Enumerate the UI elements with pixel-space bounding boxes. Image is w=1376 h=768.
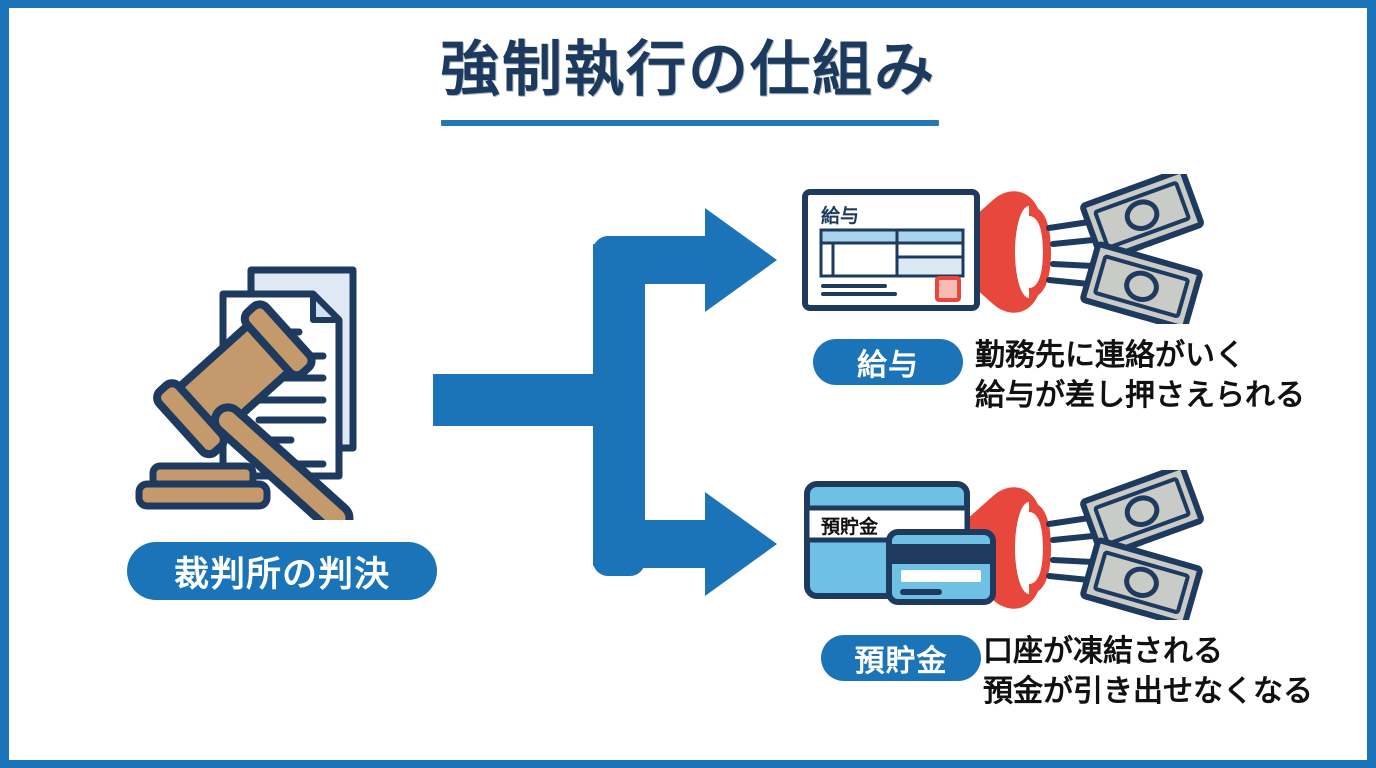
branch-deposit-caption-line-2: 預金が引き出せなくなる bbox=[983, 672, 1313, 712]
source-label-pill: 裁判所の判決 bbox=[127, 542, 437, 600]
branch-salary-caption-line-1: 勤務先に連絡がいく bbox=[975, 336, 1305, 376]
branch-salary-label-text: 給与 bbox=[857, 340, 919, 384]
forked-arrow-icon bbox=[433, 198, 793, 618]
branch-deposit: 預貯金 預貯金 口座が凍結される 預金が引き出せなくなる bbox=[797, 470, 1357, 730]
branch-salary: 給与 bbox=[797, 174, 1357, 424]
bankbook-title-text: 預貯金 bbox=[821, 515, 879, 538]
branch-salary-caption: 勤務先に連絡がいく 給与が差し押さえられる bbox=[975, 336, 1305, 415]
branch-salary-label-pill: 給与 bbox=[813, 339, 963, 385]
title-block: 強制執行の仕組み bbox=[9, 38, 1367, 101]
gavel-documents-icon bbox=[127, 252, 457, 520]
page-title: 強制執行の仕組み bbox=[9, 38, 1367, 101]
branch-deposit-label-text: 預貯金 bbox=[855, 636, 948, 680]
slide-content-area: 強制執行の仕組み bbox=[9, 8, 1367, 760]
branch-deposit-label-pill: 預貯金 bbox=[821, 635, 981, 681]
source-node: 裁判所の判決 bbox=[127, 252, 457, 612]
branch-deposit-caption: 口座が凍結される 預金が引き出せなくなる bbox=[983, 632, 1313, 711]
payslip-title-text: 給与 bbox=[821, 204, 859, 227]
payslip-vacuum-banknotes-icon: 給与 bbox=[797, 174, 1207, 324]
source-label-text: 裁判所の判決 bbox=[174, 546, 390, 597]
branch-deposit-caption-line-1: 口座が凍結される bbox=[983, 632, 1313, 672]
branch-salary-caption-line-2: 給与が差し押さえられる bbox=[975, 376, 1305, 416]
bankbook-card-vacuum-banknotes-icon: 預貯金 bbox=[797, 470, 1207, 620]
slide-canvas: 強制執行の仕組み bbox=[0, 0, 1376, 768]
title-underline bbox=[441, 120, 939, 126]
